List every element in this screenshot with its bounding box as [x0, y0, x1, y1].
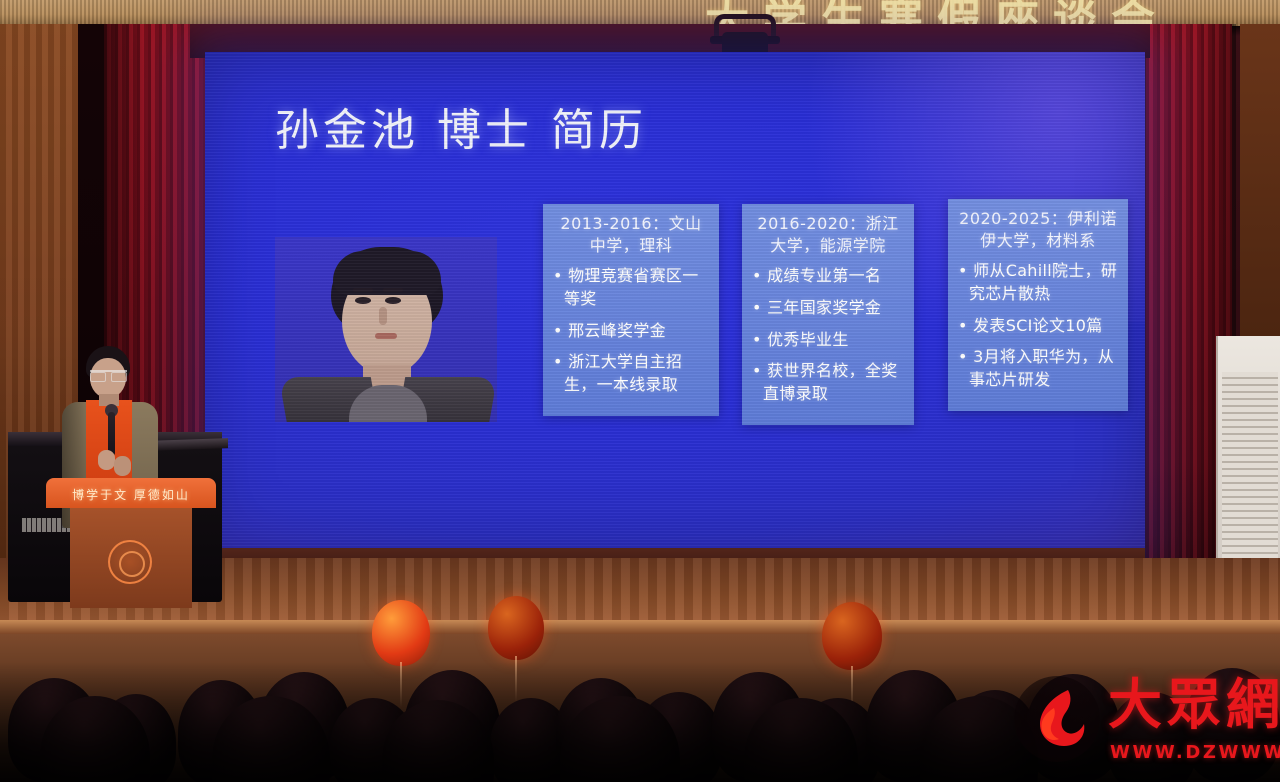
list-item: 优秀毕业生	[752, 329, 904, 352]
portrait-photo	[275, 237, 497, 422]
timeline-box-3: 2020-2025：伊利诺伊大学，材料系 师从Cahill院士，研究芯片散热 发…	[948, 199, 1128, 411]
balloon	[372, 600, 430, 666]
auditorium-scene: 大学生寒假座谈会 孙金池 博士 简历	[0, 0, 1280, 782]
timeline-box-1-heading: 2013-2016：文山中学，理科	[553, 213, 709, 257]
eyeglasses-icon	[90, 370, 127, 378]
slide-title: 孙金池 博士 简历	[275, 94, 647, 158]
list-item: 发表SCI论文10篇	[958, 315, 1118, 338]
list-item: 3月将入职华为，从事芯片研发	[958, 346, 1118, 391]
list-item: 物理竞赛省赛区一等奖	[553, 265, 709, 310]
watermark: 大眾網 WWW.DZWWW.COM	[1012, 672, 1274, 776]
ac-grille	[1222, 372, 1278, 574]
list-item: 三年国家奖学金	[752, 297, 904, 320]
timeline-box-2-list: 成绩专业第一名 三年国家奖学金 优秀毕业生 获世界名校，全奖直博录取	[752, 265, 904, 406]
timeline-box-2-heading: 2016-2020：浙江大学，能源学院	[752, 213, 904, 257]
list-item: 师从Cahill院士，研究芯片散热	[958, 260, 1118, 305]
timeline-box-1-list: 物理竞赛省赛区一等奖 邢云峰奖学金 浙江大学自主招生，一本线录取	[553, 265, 709, 397]
flame-logo-icon	[1028, 688, 1086, 748]
timeline-box-3-heading: 2020-2025：伊利诺伊大学，材料系	[958, 208, 1118, 252]
balloon	[488, 596, 544, 660]
timeline-box-1: 2013-2016：文山中学，理科 物理竞赛省赛区一等奖 邢云峰奖学金 浙江大学…	[543, 204, 719, 416]
list-item: 成绩专业第一名	[752, 265, 904, 288]
list-item: 邢云峰奖学金	[553, 320, 709, 343]
podium-banner-text: 博学于文 厚德如山	[46, 486, 216, 503]
hall-top-banner-text: 大学生寒假座谈会	[705, 0, 1280, 26]
hall-top-banner: 大学生寒假座谈会	[0, 0, 1280, 26]
projection-screen: 孙金池 博士 简历 2013-2016：文山中学，理科 物理竞赛省赛区一等奖 邢…	[205, 52, 1145, 558]
list-item: 浙江大学自主招生，一本线录取	[553, 351, 709, 396]
watermark-brand: 大眾網	[1108, 678, 1280, 732]
balloon	[822, 602, 882, 670]
watermark-url: WWW.DZWWW.COM	[1110, 742, 1280, 763]
timeline-box-2: 2016-2020：浙江大学，能源学院 成绩专业第一名 三年国家奖学金 优秀毕业…	[742, 204, 914, 425]
timeline-box-3-list: 师从Cahill院士，研究芯片散热 发表SCI论文10篇 3月将入职华为，从事芯…	[958, 260, 1118, 392]
list-item: 获世界名校，全奖直博录取	[752, 360, 904, 405]
